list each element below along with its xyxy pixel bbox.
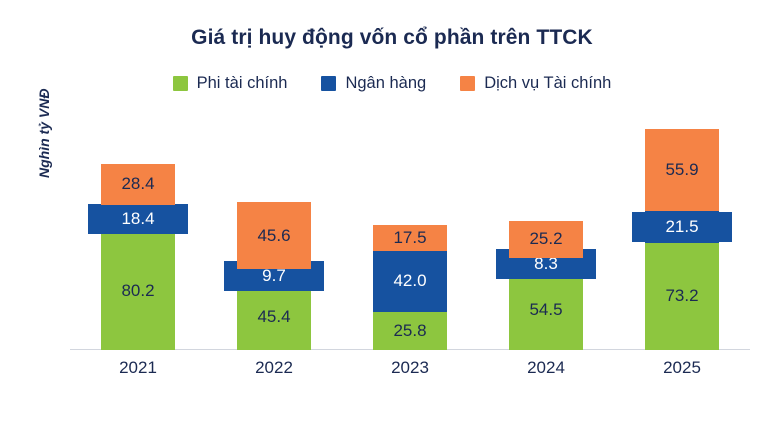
legend-swatch-orange	[460, 76, 475, 91]
bar-segment-2021-phi-tai-chinh[interactable]: 80.2	[101, 232, 175, 350]
legend-item-phi-tai-chinh[interactable]: Phi tài chính	[173, 74, 288, 93]
bar-segment-2025-ngan-hang[interactable]: 21.5	[645, 211, 719, 243]
bar-value-label: 9.7	[262, 266, 286, 286]
x-tick-2023: 2023	[373, 358, 447, 378]
bar-value-label: 17.5	[393, 228, 426, 248]
bar-segment-2022-phi-tai-chinh[interactable]: 45.4	[237, 283, 311, 350]
bar-segment-2025-phi-tai-chinh[interactable]: 73.2	[645, 243, 719, 350]
bar-value-label: 25.8	[393, 321, 426, 341]
bar-value-label: 45.6	[257, 226, 290, 246]
bar-value-label: 42.0	[393, 271, 426, 291]
legend-swatch-green	[173, 76, 188, 91]
chart-legend: Phi tài chính Ngân hàng Dịch vụ Tài chín…	[0, 74, 784, 93]
x-tick-2024: 2024	[509, 358, 583, 378]
legend-item-ngan-hang[interactable]: Ngân hàng	[321, 74, 426, 93]
bar-segment-2024-phi-tai-chinh[interactable]: 54.5	[509, 270, 583, 350]
legend-label-phi-tai-chinh: Phi tài chính	[197, 74, 288, 93]
x-axis-tick-labels: 20212022202320242025	[70, 358, 750, 384]
bar-value-label: 21.5	[665, 217, 698, 237]
bar-value-label: 18.4	[121, 209, 154, 229]
bar-value-label: 54.5	[529, 300, 562, 320]
legend-item-dich-vu-tai-chinh[interactable]: Dịch vụ Tài chính	[460, 74, 611, 93]
bar-segment-2024-ngan-hang[interactable]: 8.3	[509, 258, 583, 270]
bar-value-label: 55.9	[665, 160, 698, 180]
chart-container: Giá trị huy động vốn cổ phần trên TTCK P…	[0, 0, 784, 432]
y-axis-title: Nghìn tỷ VNĐ	[36, 68, 54, 178]
bar-segment-2023-dich-vu-tai-chinh[interactable]: 17.5	[373, 225, 447, 251]
bar-segment-2021-ngan-hang[interactable]: 18.4	[101, 205, 175, 232]
chart-title: Giá trị huy động vốn cổ phần trên TTCK	[0, 26, 784, 50]
bar-value-label: 25.2	[529, 229, 562, 249]
bar-value-plaque: 21.5	[632, 212, 732, 242]
bar-segment-2023-phi-tai-chinh[interactable]: 25.8	[373, 312, 447, 350]
bar-value-label: 73.2	[665, 286, 698, 306]
legend-swatch-blue	[321, 76, 336, 91]
x-tick-2021: 2021	[101, 358, 175, 378]
bar-segment-2025-dich-vu-tai-chinh[interactable]: 55.9	[645, 129, 719, 211]
bar-value-label: 28.4	[121, 174, 154, 194]
bar-value-plaque: 18.4	[88, 204, 188, 234]
bar-value-label: 80.2	[121, 281, 154, 301]
legend-label-ngan-hang: Ngân hàng	[345, 74, 426, 93]
plot-area: 80.218.428.445.49.745.625.842.017.554.58…	[70, 110, 750, 350]
bar-value-label: 45.4	[257, 307, 290, 327]
x-tick-2025: 2025	[645, 358, 719, 378]
bar-segment-2022-dich-vu-tai-chinh[interactable]: 45.6	[237, 202, 311, 269]
bar-segment-2022-ngan-hang[interactable]: 9.7	[237, 269, 311, 283]
x-tick-2022: 2022	[237, 358, 311, 378]
legend-label-dich-vu-tai-chinh: Dịch vụ Tài chính	[484, 74, 611, 93]
bar-segment-2021-dich-vu-tai-chinh[interactable]: 28.4	[101, 164, 175, 206]
bar-segment-2023-ngan-hang[interactable]: 42.0	[373, 251, 447, 313]
bar-segment-2024-dich-vu-tai-chinh[interactable]: 25.2	[509, 221, 583, 258]
